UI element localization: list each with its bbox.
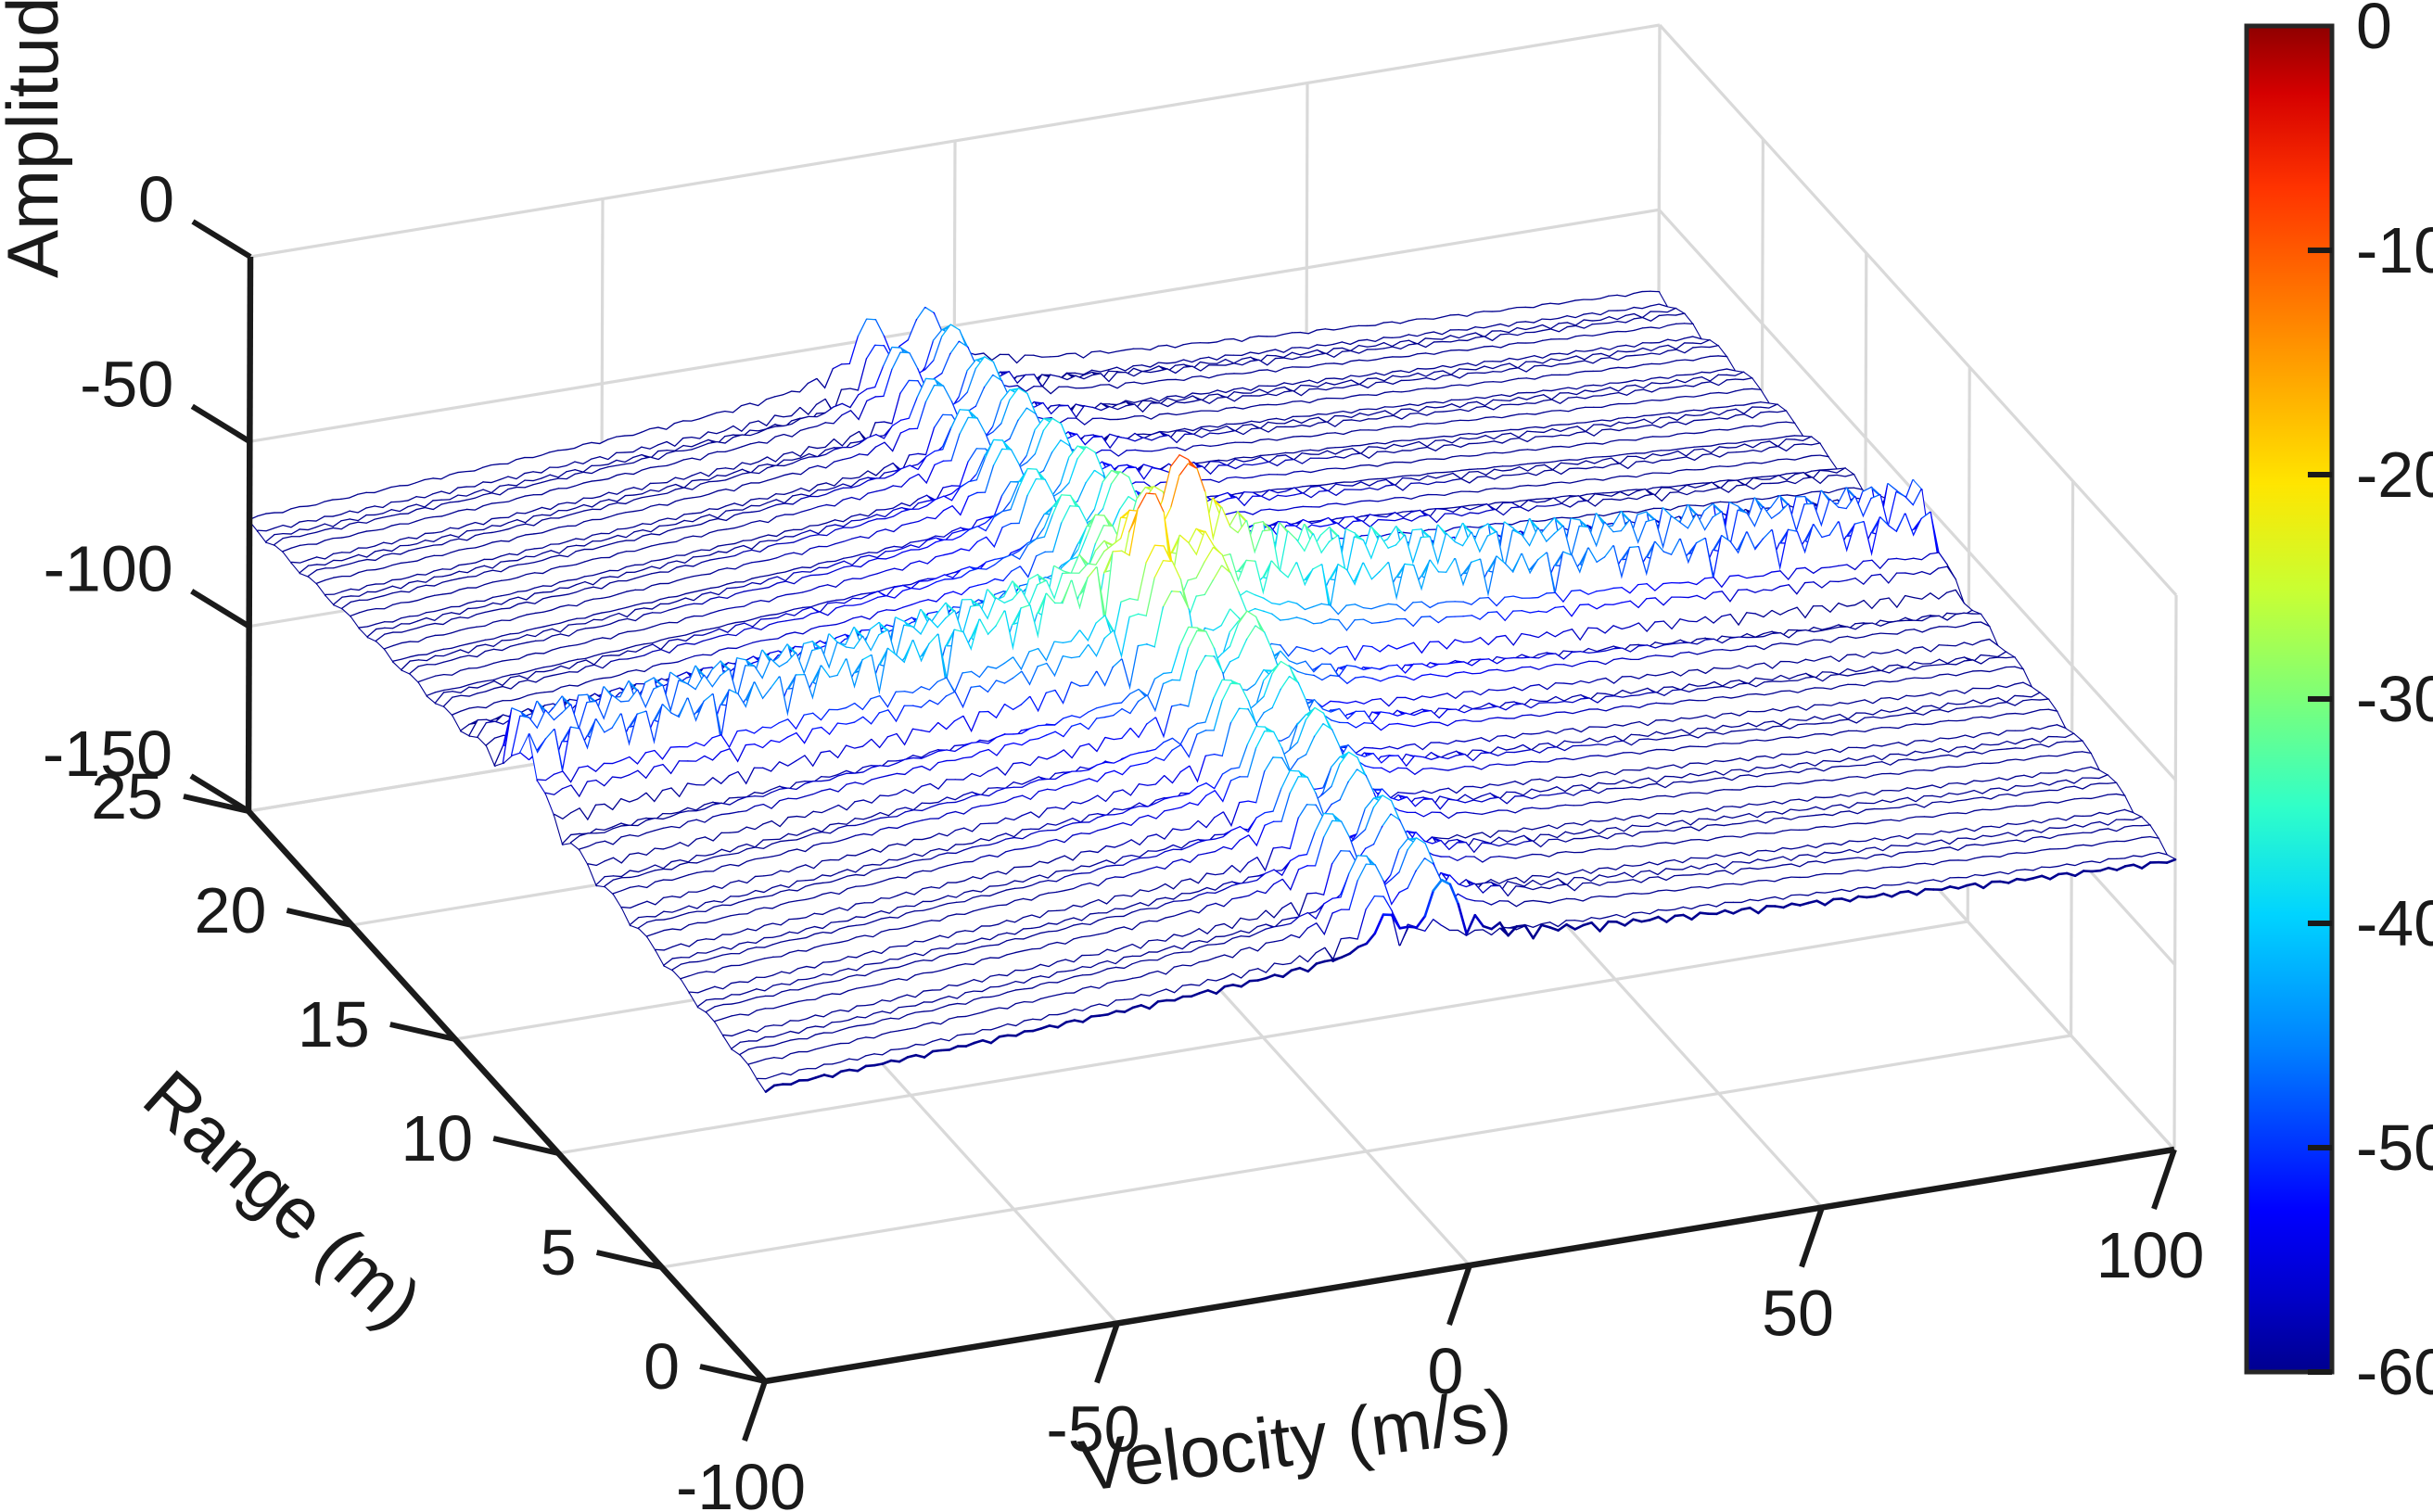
- tick-mark: [745, 1381, 765, 1441]
- colorbar-tick-label: -60: [2356, 1336, 2433, 1408]
- colorbar-tick-label: -30: [2356, 663, 2433, 735]
- tick-label: 25: [91, 760, 163, 832]
- tick-mark: [1802, 1208, 1822, 1267]
- colorbar-tick-label: -10: [2356, 214, 2433, 286]
- tick-label: -50: [80, 348, 173, 420]
- tick-mark: [1449, 1265, 1470, 1325]
- tick-label: 50: [1762, 1277, 1834, 1350]
- surface-plot-3d: 0-50-100-1502520151050-100-50050100 Ampl…: [0, 0, 2433, 1512]
- x-axis-title: Velocity (m/s): [1075, 1373, 1515, 1506]
- colorbar-tick-labels: 0-10-20-30-40-50-60: [2356, 0, 2433, 1408]
- axis-line: [248, 257, 250, 811]
- tick-label: 10: [401, 1102, 473, 1175]
- colorbar[interactable]: 0-10-20-30-40-50-60: [2247, 0, 2433, 1408]
- colorbar-tick-label: -20: [2356, 438, 2433, 511]
- tick-mark: [192, 406, 249, 441]
- colorbar-tick-label: -40: [2356, 887, 2433, 959]
- figure-canvas: 0-50-100-1502520151050-100-50050100 Ampl…: [0, 0, 2433, 1512]
- gridline: [662, 1036, 2071, 1267]
- tick-label: 0: [643, 1330, 680, 1403]
- tick-label: 15: [298, 988, 370, 1061]
- tick-mark: [193, 222, 250, 257]
- tick-label: -100: [676, 1451, 806, 1512]
- gridline: [2174, 595, 2176, 1150]
- tick-label: 0: [138, 163, 174, 235]
- y-axis-title: Range (m): [129, 1054, 438, 1343]
- colorbar-tick-label: -50: [2356, 1112, 2433, 1184]
- tick-mark: [2154, 1150, 2174, 1209]
- tick-label: 5: [541, 1216, 577, 1289]
- z-axis-title: Amplitude(dB): [0, 0, 73, 278]
- tick-label: 20: [195, 874, 267, 947]
- tick-mark: [192, 591, 249, 627]
- tick-label: -100: [44, 533, 173, 605]
- mesh-surface: [249, 292, 2175, 1092]
- colorbar-tick-label: 0: [2356, 0, 2392, 62]
- tick-mark: [1097, 1324, 1117, 1383]
- tick-label: 100: [2096, 1219, 2205, 1291]
